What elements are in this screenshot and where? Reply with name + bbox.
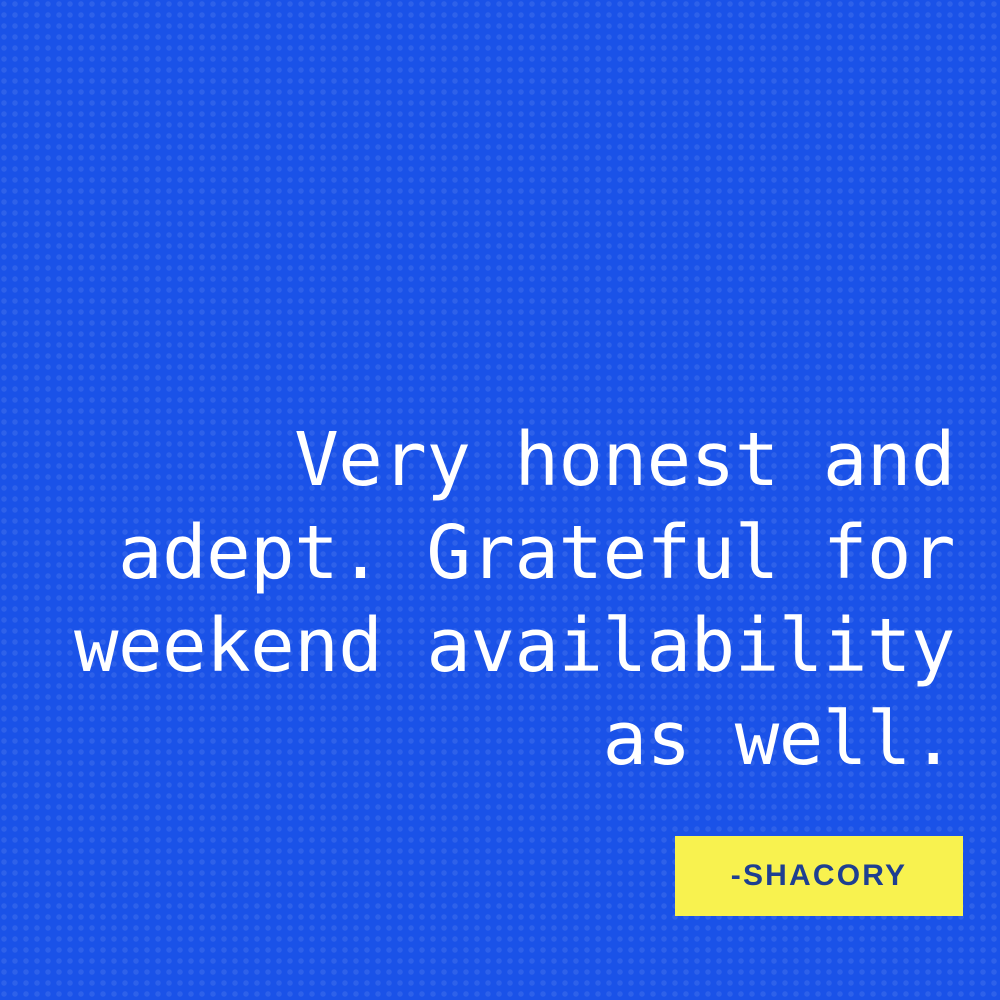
quote-line-4: as well. [0,693,955,786]
testimonial-card: “ Very honest and adept. Grateful for we… [0,0,1000,1000]
quote-text-block: Very honest and adept. Grateful for week… [0,414,1000,786]
attribution-badge: -SHACORY [675,836,963,916]
quote-line-1: Very honest and [0,414,955,507]
opening-quote-mark-icon: “ [0,0,546,370]
quote-line-3: weekend availability [0,600,955,693]
attribution-label: -SHACORY [731,859,908,893]
quote-line-2: adept. Grateful for [0,507,955,600]
